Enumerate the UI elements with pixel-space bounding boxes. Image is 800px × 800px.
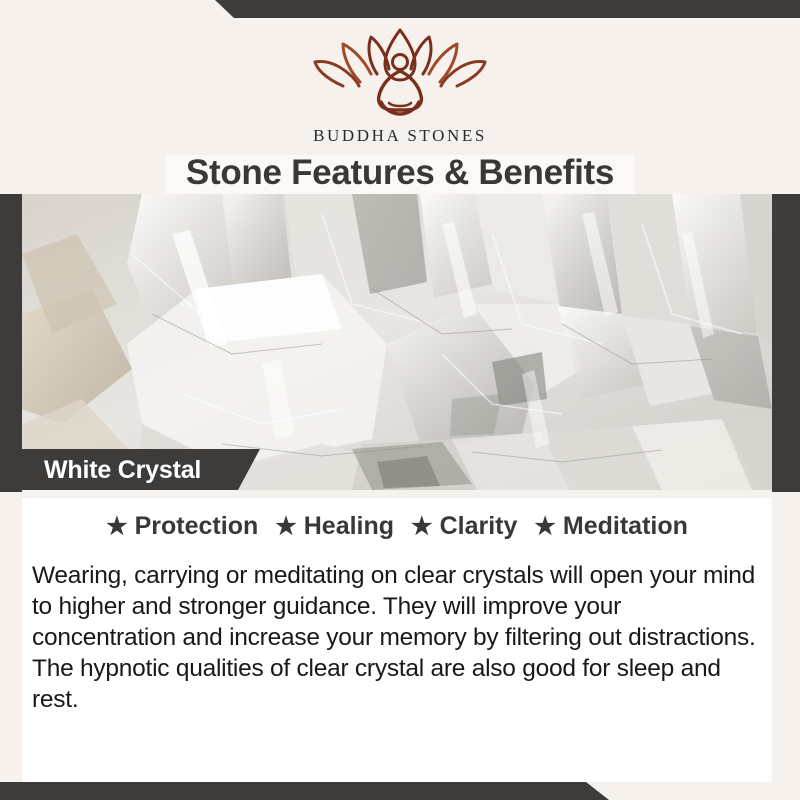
benefit-label: Healing: [304, 512, 394, 541]
benefit-label: Meditation: [563, 512, 688, 541]
card-header: BUDDHA STONES Stone Features & Benefits: [0, 18, 800, 194]
brand-name: BUDDHA STONES: [313, 126, 487, 146]
left-accent-rail: [0, 186, 22, 492]
benefit-item-healing: ★ Healing: [275, 512, 394, 541]
bottom-accent-bar: [0, 782, 800, 800]
lotus-meditation-figure-icon: [305, 24, 495, 124]
description-text: Wearing, carrying or meditating on clear…: [32, 560, 760, 715]
benefit-item-meditation: ★ Meditation: [534, 512, 688, 541]
white-crystal-photo: [22, 194, 772, 490]
star-icon: ★: [106, 515, 128, 539]
page-title: Stone Features & Benefits: [0, 153, 800, 193]
benefit-label: Clarity: [440, 512, 518, 541]
right-accent-rail: [772, 186, 800, 492]
star-icon: ★: [534, 515, 556, 539]
content-panel: ★ Protection ★ Healing ★ Clarity ★ Medit…: [22, 498, 772, 782]
photo-caption-label: White Crystal: [44, 456, 201, 485]
star-icon: ★: [411, 515, 433, 539]
brand-logo: BUDDHA STONES: [0, 24, 800, 146]
benefits-row: ★ Protection ★ Healing ★ Clarity ★ Medit…: [22, 512, 772, 541]
benefit-item-protection: ★ Protection: [106, 512, 258, 541]
stone-benefits-card: BUDDHA STONES Stone Features & Benefits: [0, 0, 800, 800]
star-icon: ★: [275, 515, 297, 539]
benefit-item-clarity: ★ Clarity: [411, 512, 517, 541]
top-accent-bar: [0, 0, 800, 18]
benefit-label: Protection: [135, 512, 259, 541]
